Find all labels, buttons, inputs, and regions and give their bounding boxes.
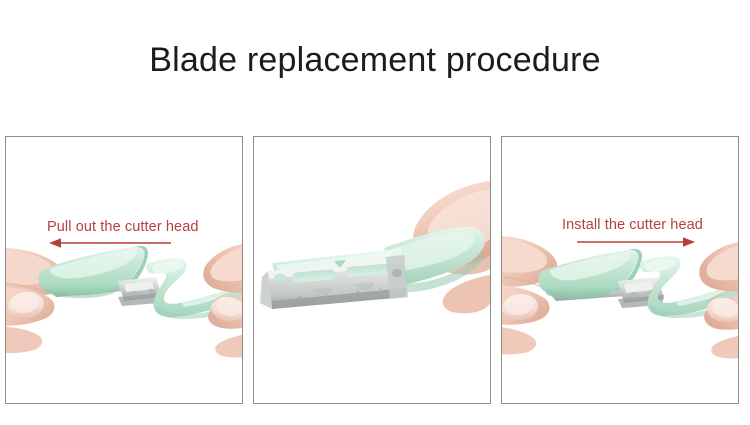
page-title: Blade replacement procedure [0, 40, 750, 80]
panel-blade-detail [253, 136, 491, 404]
arrow-right-icon [577, 236, 695, 248]
panel-pull-out: Pull out the cutter head [5, 136, 243, 404]
photo-install [502, 137, 738, 403]
panel-row: Pull out the cutter head [0, 136, 750, 406]
arrow-left-icon [49, 237, 175, 249]
photo-pull-out [6, 137, 242, 403]
page-root: Blade replacement procedure [0, 0, 750, 425]
caption-install: Install the cutter head [562, 217, 703, 233]
caption-pull-out: Pull out the cutter head [47, 219, 199, 235]
photo-blade-detail [254, 137, 490, 403]
panel-install: Install the cutter head [501, 136, 739, 404]
